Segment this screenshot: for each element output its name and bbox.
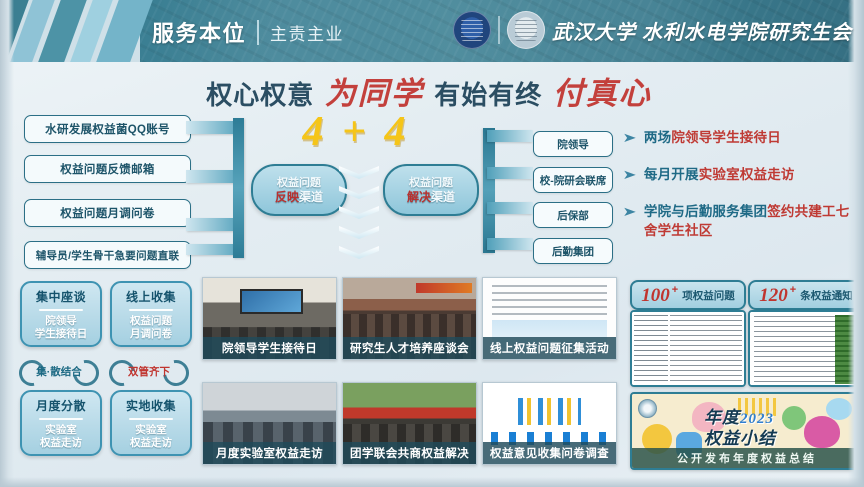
slogan-part-1: 权心权意 — [206, 80, 314, 110]
quad-box-4-title: 实地收集 — [126, 397, 176, 414]
divider — [129, 309, 173, 311]
cycle-label-2: 双管齐下 — [128, 364, 170, 379]
header-logo-group: 武汉大学 水利水电学院研究生会 — [453, 11, 852, 49]
quad-box-1-title: 集中座谈 — [36, 288, 86, 305]
photo-caption-2: 研究生人才培养座谈会 — [343, 337, 476, 359]
bottom-edge-shadow — [0, 477, 864, 487]
quad-box-3-detail: 实验室权益走访 — [40, 424, 82, 449]
left-bracket-connector — [186, 118, 244, 258]
left-channel-box-2[interactable]: 权益问题反馈邮箱 — [24, 155, 191, 183]
chevron-flow-icon — [339, 166, 379, 266]
photo-card-1[interactable]: 院领导学生接待日 — [202, 277, 337, 360]
banner-title-line1: 年度 — [704, 408, 740, 427]
photo-card-2[interactable]: 研究生人才培养座谈会 — [342, 277, 477, 360]
quad-box-2[interactable]: 线上收集 权益问题月调问卷 — [110, 281, 192, 347]
photo-caption-3: 线上权益问题征集活动 — [483, 337, 616, 359]
stat-badge-1: 100 + 项权益问题 — [630, 280, 746, 310]
slogan-part-2: 为同学 — [325, 76, 424, 111]
right-channel-box-2[interactable]: 校-院研会联席 — [533, 167, 613, 193]
arrow-right-icon: ➤ — [622, 168, 636, 181]
annual-summary-banner[interactable]: 年度2023 权益小结 公开发布年度权益总结 — [630, 392, 864, 470]
arrow-right-icon: ➤ — [622, 131, 636, 144]
arrow-right-icon: ➤ — [622, 205, 636, 218]
header-bar: 服务本位 主责主业 武汉大学 水利水电学院研究生会 — [0, 0, 864, 62]
bullet-text-1: 两场院领导学生接待日 — [644, 128, 781, 147]
header-title-sub: 主责主业 — [270, 20, 344, 45]
cycle-label-1: 集·散结合 — [36, 364, 82, 379]
four-plus-four-badge: 4 + 4 — [286, 108, 426, 156]
banner-title-line2: 权益小结 — [704, 429, 776, 448]
quad-box-2-title: 线上收集 — [126, 288, 176, 305]
left-channel-box-1[interactable]: 水研发展权益菌QQ账号 — [24, 115, 191, 143]
photo-caption-1: 院领导学生接待日 — [203, 337, 336, 359]
stat-label-2: 条权益通知 — [800, 288, 853, 303]
right-bracket-connector — [483, 128, 535, 253]
university-name: 武汉大学 水利水电学院研究生会 — [552, 16, 852, 45]
left-channel-box-3[interactable]: 权益问题月调问卷 — [24, 199, 191, 227]
header-title-divider — [257, 20, 259, 45]
graduate-union-seal-icon — [507, 11, 545, 49]
divider — [129, 418, 173, 420]
divider — [39, 309, 83, 311]
photo-caption-5: 团学联会共商权益解决 — [343, 442, 476, 464]
bullet-text-3: 学院与后勤服务集团签约共建工七舍学生社区 — [644, 202, 862, 240]
resolution-channel-line2: 解决渠道 — [407, 190, 455, 205]
photo-caption-6: 权益意见收集问卷调查 — [483, 442, 616, 464]
slogan-line: 权心权意 为同学 有始有终 付真心 — [0, 68, 864, 113]
resolution-channel-pill[interactable]: 权益问题 解决渠道 — [383, 164, 479, 216]
photo-caption-4: 月度实验室权益走访 — [203, 442, 336, 464]
left-edge-shadow — [0, 0, 14, 487]
slogan-part-3: 有始有终 — [434, 80, 542, 110]
banner-title: 年度2023 权益小结 — [704, 408, 776, 449]
cycle-label-1-group: 集·散结合 — [20, 354, 98, 388]
quad-box-4[interactable]: 实地收集 实验室权益走访 — [110, 390, 192, 456]
bullet-text-2: 每月开展实验室权益走访 — [644, 165, 795, 184]
cycle-label-2-group: 双管齐下 — [110, 354, 188, 388]
document-screenshot-2[interactable] — [748, 310, 864, 387]
quad-box-4-detail: 实验室权益走访 — [130, 424, 172, 449]
stat-plus-2: + — [790, 284, 796, 296]
slogan-part-4: 付真心 — [553, 76, 652, 111]
logo-divider — [498, 16, 500, 44]
wuhan-university-seal-icon — [453, 11, 491, 49]
right-channel-box-1[interactable]: 院领导 — [533, 131, 613, 157]
quad-box-1[interactable]: 集中座谈 院领导学生接待日 — [20, 281, 102, 347]
bullet-item-3: ➤ 学院与后勤服务集团签约共建工七舍学生社区 — [624, 202, 862, 240]
divider — [39, 418, 83, 420]
header-title-main: 服务本位 — [152, 16, 246, 48]
banner-caption: 公开发布年度权益总结 — [632, 448, 862, 468]
photo-card-6[interactable]: 权益意见收集问卷调查 — [482, 382, 617, 465]
banner-blob-green — [782, 406, 806, 430]
bullet-item-1: ➤ 两场院领导学生接待日 — [624, 128, 862, 147]
stat-badge-2: 120 + 条权益通知 — [748, 280, 864, 310]
quad-box-3[interactable]: 月度分散 实验室权益走访 — [20, 390, 102, 456]
document-body-1 — [632, 312, 744, 385]
quad-box-1-detail: 院领导学生接待日 — [35, 315, 88, 340]
highlight-bullet-list: ➤ 两场院领导学生接待日 ➤ 每月开展实验室权益走访 ➤ 学院与后勤服务集团签约… — [624, 128, 862, 258]
banner-blob-magenta — [804, 416, 840, 448]
stat-label-1: 项权益问题 — [682, 288, 735, 303]
document-screenshot-1[interactable] — [630, 310, 746, 387]
stat-number-2: 120 — [759, 286, 788, 305]
right-channel-box-3[interactable]: 后保部 — [533, 202, 613, 228]
resolution-channel-line1: 权益问题 — [409, 176, 453, 190]
slide-root: 服务本位 主责主业 武汉大学 水利水电学院研究生会 权心权意 为同学 有始有终 … — [0, 0, 864, 487]
banner-seal-icon — [638, 399, 657, 418]
document-body-2 — [750, 312, 862, 385]
banner-year: 2023 — [740, 411, 774, 427]
photo-card-4[interactable]: 月度实验室权益走访 — [202, 382, 337, 465]
right-edge-shadow — [848, 0, 864, 487]
reporting-channel-pill[interactable]: 权益问题 反映渠道 — [251, 164, 347, 216]
header-title-group: 服务本位 主责主业 — [152, 16, 344, 48]
bullet-item-2: ➤ 每月开展实验室权益走访 — [624, 165, 862, 184]
stat-plus-1: + — [672, 284, 678, 296]
quad-box-2-detail: 权益问题月调问卷 — [130, 315, 172, 340]
reporting-channel-line1: 权益问题 — [277, 176, 321, 190]
photo-card-5[interactable]: 团学联会共商权益解决 — [342, 382, 477, 465]
quad-box-3-title: 月度分散 — [36, 397, 86, 414]
reporting-channel-line2: 反映渠道 — [275, 190, 323, 205]
photo-card-3[interactable]: 线上权益问题征集活动 — [482, 277, 617, 360]
stat-number-1: 100 — [641, 286, 670, 305]
left-channel-box-4[interactable]: 辅导员/学生骨干急要问题直联 — [24, 241, 191, 269]
right-channel-box-4[interactable]: 后勤集团 — [533, 238, 613, 264]
